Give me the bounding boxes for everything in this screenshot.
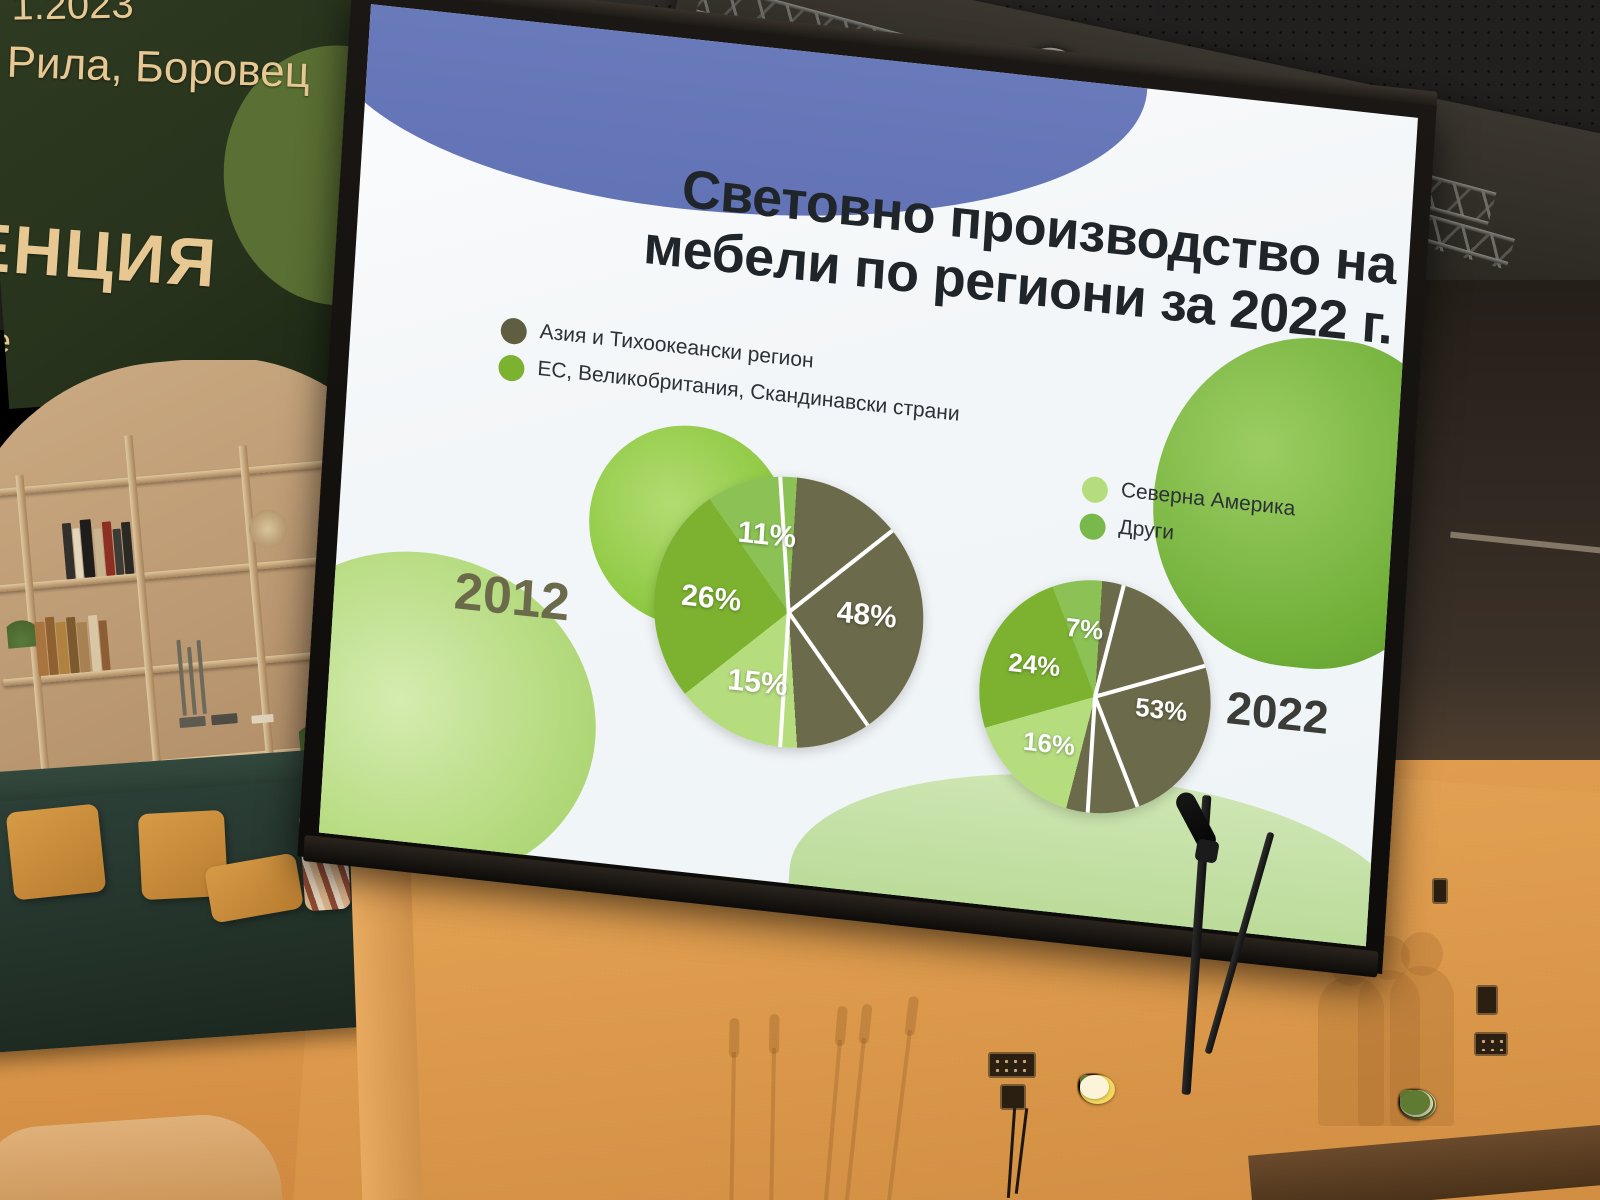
projection-screen: Световно производство на мебели по регио…: [297, 0, 1436, 974]
banner-date: 1.2023: [11, 0, 134, 30]
wall-socket: [1476, 985, 1498, 1015]
microphone-clamp: [1194, 838, 1219, 863]
shelf-plant: [6, 614, 37, 648]
legend-right: Северна Америка Други: [1078, 473, 1296, 570]
year-label-2012: 2012: [452, 561, 571, 633]
wall-socket-plate: [988, 1052, 1036, 1078]
legend-label-north-america: Северна Америка: [1120, 478, 1296, 523]
wall-sensor: [1432, 878, 1448, 904]
pie-slice-divider: [1093, 696, 1139, 807]
wall-socket: [1000, 1084, 1026, 1110]
legend-color-swatch-eu: [498, 354, 526, 383]
flower-arrangement: [1080, 1075, 1360, 1200]
pie-chart-2022: 53%16%24%7%: [972, 568, 1217, 825]
flower-arrangement-side: [1400, 1090, 1600, 1200]
pie-slice-label: 11%: [737, 516, 797, 556]
pie-chart-2012: 48%15%26%11%: [646, 463, 932, 762]
pie-slice-label: 24%: [1007, 647, 1061, 684]
pie-slice-divider: [1086, 697, 1097, 813]
legend-color-swatch-other: [1079, 512, 1107, 541]
pie-slice-label: 15%: [727, 663, 789, 703]
pie-slice-label: 48%: [836, 596, 898, 636]
wall-socket-plate: [1474, 1032, 1508, 1056]
pie-slice-label: 7%: [1065, 612, 1104, 647]
flower: [1400, 1090, 1430, 1115]
legend-color-swatch-asia: [500, 317, 528, 346]
screen-frame: Световно производство на мебели по регио…: [297, 0, 1436, 974]
flower: [1080, 1075, 1109, 1099]
banner-location: ел Рила, Боровец: [0, 36, 311, 99]
conference-room-photo: 1.2023 ел Рила, Боровец РЕНЦИЯ ане: [0, 0, 1600, 1200]
year-label-2022: 2022: [1225, 680, 1330, 745]
pie-slice-label: 26%: [680, 579, 742, 619]
legend-label-other: Други: [1118, 515, 1175, 547]
pillow: [6, 803, 107, 900]
legend-color-swatch-north-america: [1081, 475, 1109, 504]
legend-left: Азия и Тихоокеански регион ЕС, Великобри…: [497, 315, 963, 439]
banner-title: РЕНЦИЯ: [0, 204, 220, 303]
pie-slice-label: 53%: [1134, 692, 1188, 729]
pie-slice-label: 16%: [1022, 726, 1076, 763]
slide-title: Световно производство на мебели по регио…: [495, 139, 1398, 357]
presentation-slide: Световно производство на мебели по регио…: [319, 4, 1418, 946]
